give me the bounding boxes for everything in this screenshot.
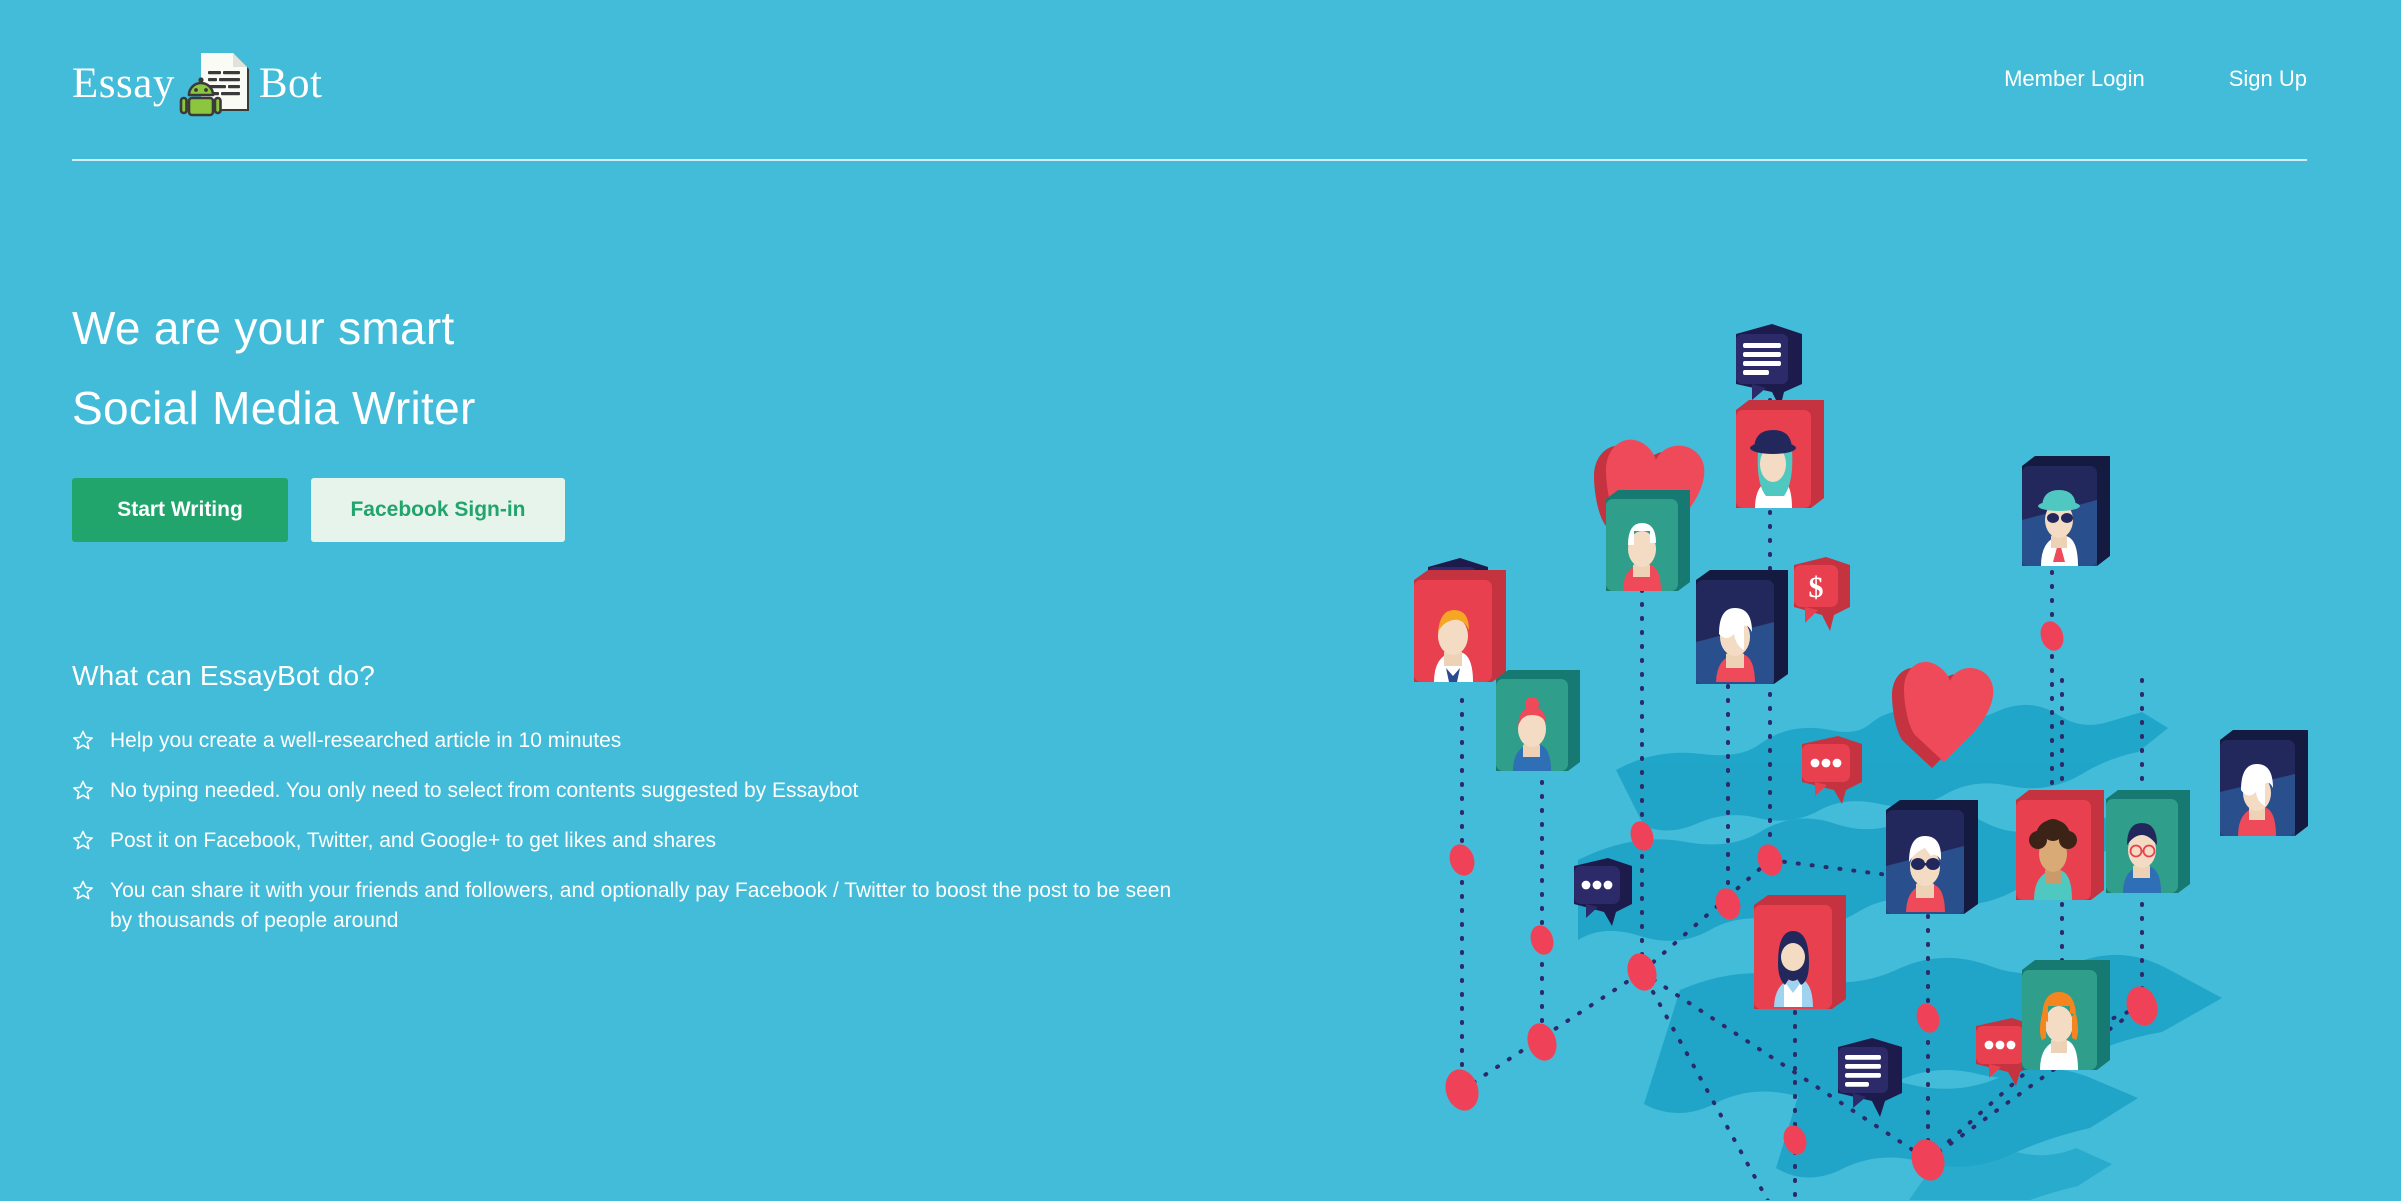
social-network-world-map-illustration: $	[1380, 300, 2380, 1200]
feature-text: You can share it with your friends and f…	[110, 876, 1180, 936]
nav-link-member-login[interactable]: Member Login	[2004, 66, 2145, 92]
feature-text: Post it on Facebook, Twitter, and Google…	[110, 826, 716, 856]
dollar-bubble-icon: $	[1794, 557, 1850, 631]
avatar-card	[1886, 800, 1978, 914]
avatar-card	[2022, 960, 2110, 1070]
document-robot-icon	[179, 45, 255, 121]
list-item: No typing needed. You only need to selec…	[72, 776, 1272, 806]
brand-name-right: Bot	[259, 62, 323, 105]
nav-link-sign-up[interactable]: Sign Up	[2229, 66, 2307, 92]
features-section: What can EssayBot do? Help you create a …	[72, 660, 1272, 956]
hero-cta-row: Start Writing Facebook Sign-in	[72, 478, 565, 542]
world-map-shape	[1578, 705, 2222, 1200]
avatar-card	[1696, 570, 1788, 684]
brand-logo[interactable]: Essay	[72, 48, 322, 118]
feature-text: No typing needed. You only need to selec…	[110, 776, 858, 806]
avatar-card	[1414, 570, 1506, 682]
message-bubble-icon	[1736, 324, 1802, 408]
hero-heading: We are your smart Social Media Writer	[72, 288, 1322, 448]
star-icon	[72, 829, 94, 851]
avatar-card	[1754, 895, 1846, 1009]
list-item: You can share it with your friends and f…	[72, 876, 1272, 936]
star-icon	[72, 879, 94, 901]
avatar-card	[2220, 730, 2308, 836]
features-title: What can EssayBot do?	[72, 660, 1272, 692]
list-item: Post it on Facebook, Twitter, and Google…	[72, 826, 1272, 856]
header-divider	[72, 159, 2307, 161]
avatar-card	[1606, 490, 1690, 591]
facebook-signin-button[interactable]: Facebook Sign-in	[311, 478, 565, 542]
avatar-card	[1496, 670, 1580, 771]
star-icon	[72, 779, 94, 801]
site-header: Essay	[0, 0, 2401, 160]
avatar-card	[1736, 400, 1824, 508]
hero-line-1: We are your smart	[72, 288, 1322, 368]
brand-name-left: Essay	[72, 62, 175, 105]
avatar-card	[2016, 790, 2104, 900]
hero-line-2: Social Media Writer	[72, 368, 1322, 448]
star-icon	[72, 729, 94, 751]
avatar-card	[2106, 790, 2190, 893]
feature-text: Help you create a well-researched articl…	[110, 726, 621, 756]
svg-text:$: $	[1809, 571, 1824, 604]
start-writing-button[interactable]: Start Writing	[72, 478, 288, 542]
avatar-card	[2022, 456, 2110, 566]
main-navigation: Member Login Sign Up	[2004, 66, 2307, 92]
list-item: Help you create a well-researched articl…	[72, 726, 1272, 756]
